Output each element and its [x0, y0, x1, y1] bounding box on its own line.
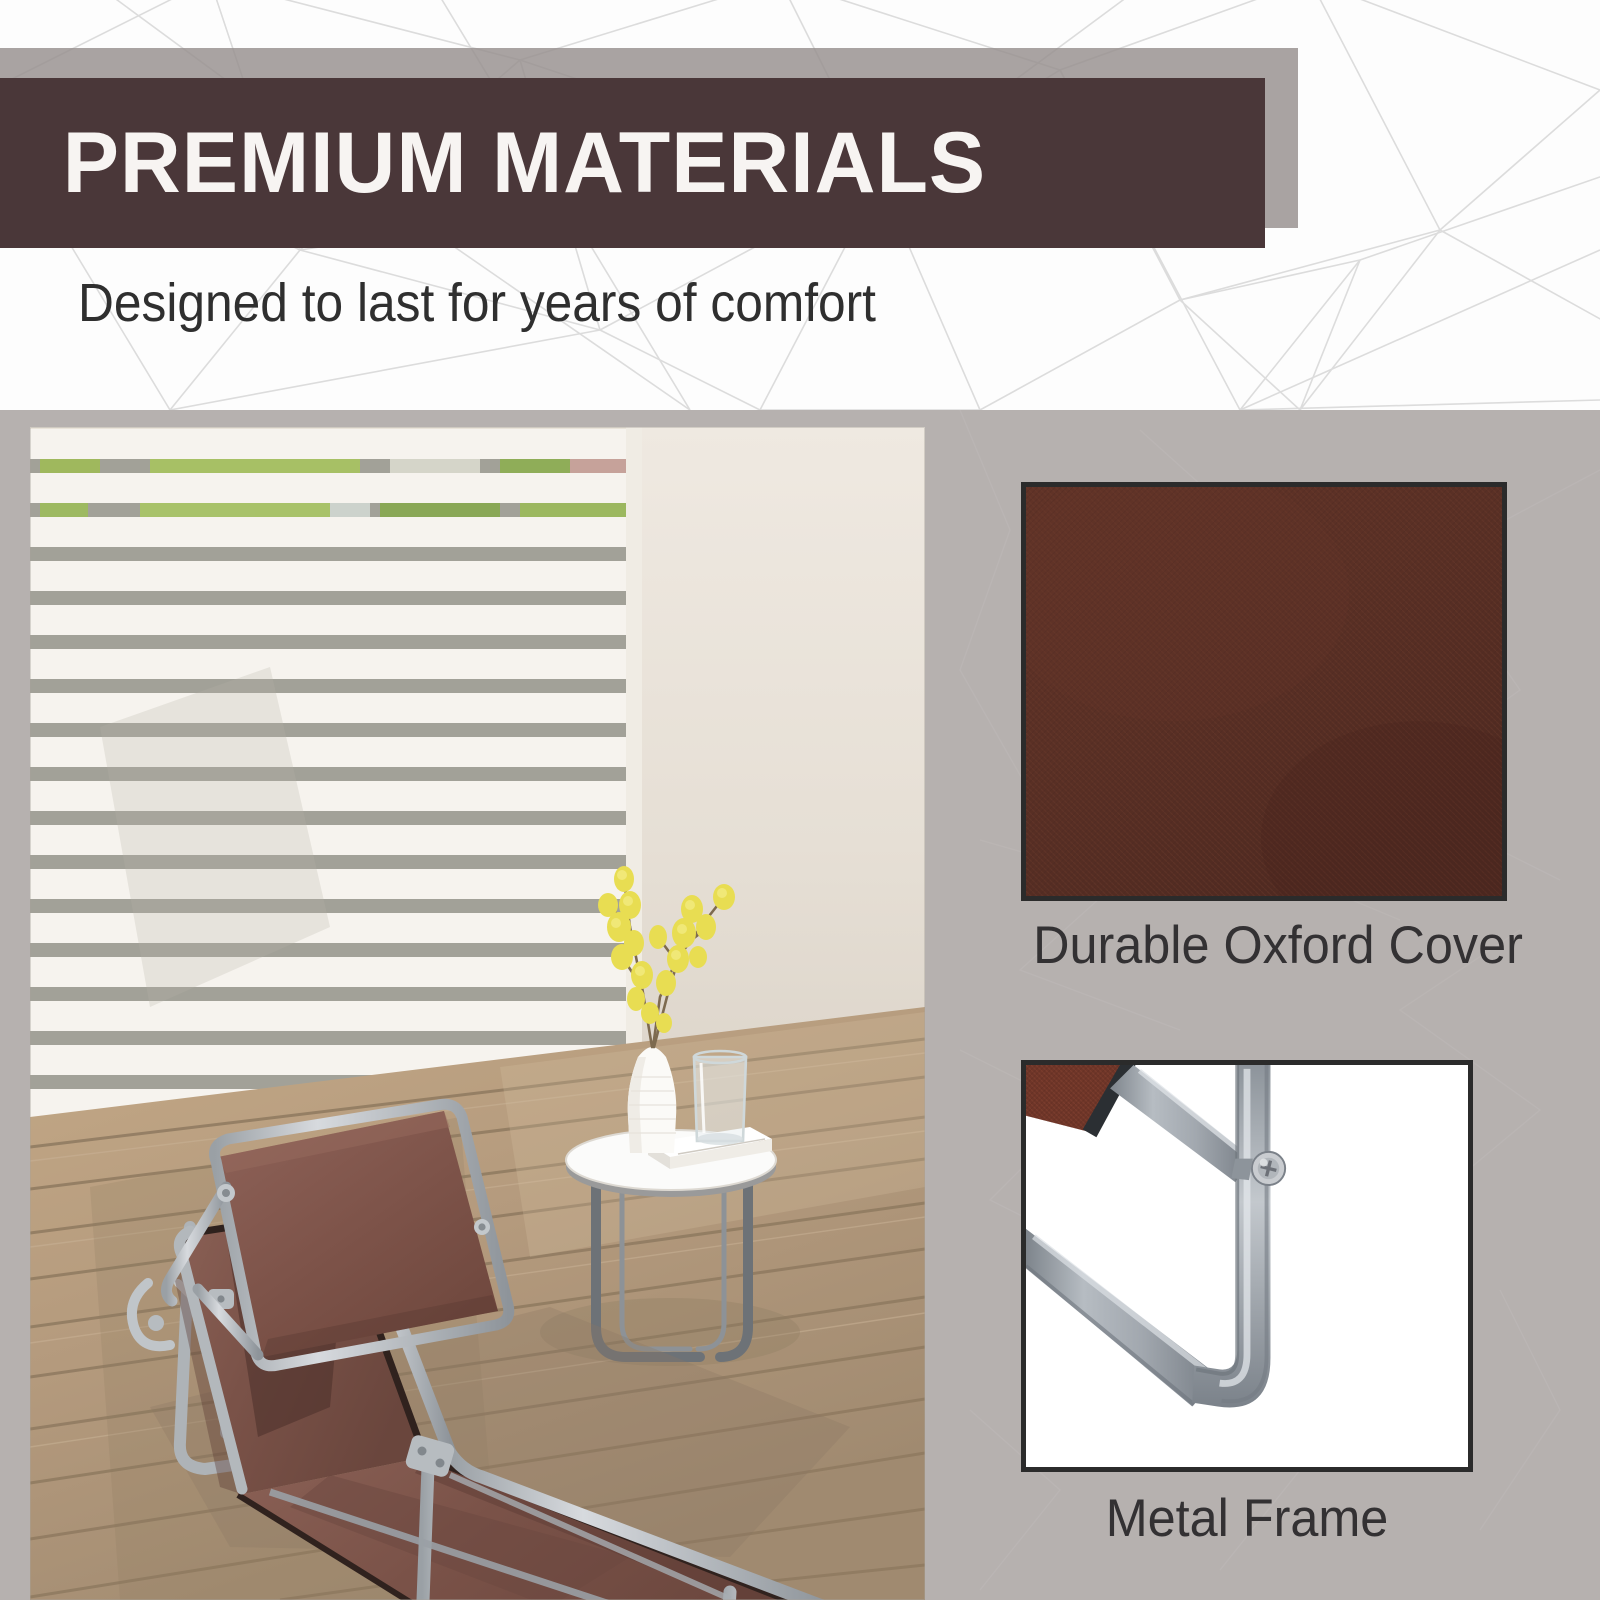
premium-materials-banner: PREMIUM MATERIALS — [0, 78, 1265, 248]
header-band: PREMIUM MATERIALS Designed to last for y… — [0, 0, 1600, 410]
metal-frame-card — [1021, 1060, 1473, 1472]
metal-frame-closeup — [1026, 1065, 1468, 1467]
metal-frame-card-caption: Metal Frame — [1032, 1488, 1461, 1549]
page-title: PREMIUM MATERIALS — [0, 120, 986, 206]
hero-photo-illustration — [30, 427, 925, 1600]
content-section: Durable Oxford Cover — [0, 410, 1600, 1600]
fabric-card-caption: Durable Oxford Cover — [1033, 915, 1495, 976]
fabric-swatch-card — [1021, 482, 1507, 901]
page-subtitle: Designed to last for years of comfort — [78, 272, 876, 334]
oxford-fabric-texture — [1026, 487, 1502, 896]
hero-product-photo — [30, 427, 925, 1600]
